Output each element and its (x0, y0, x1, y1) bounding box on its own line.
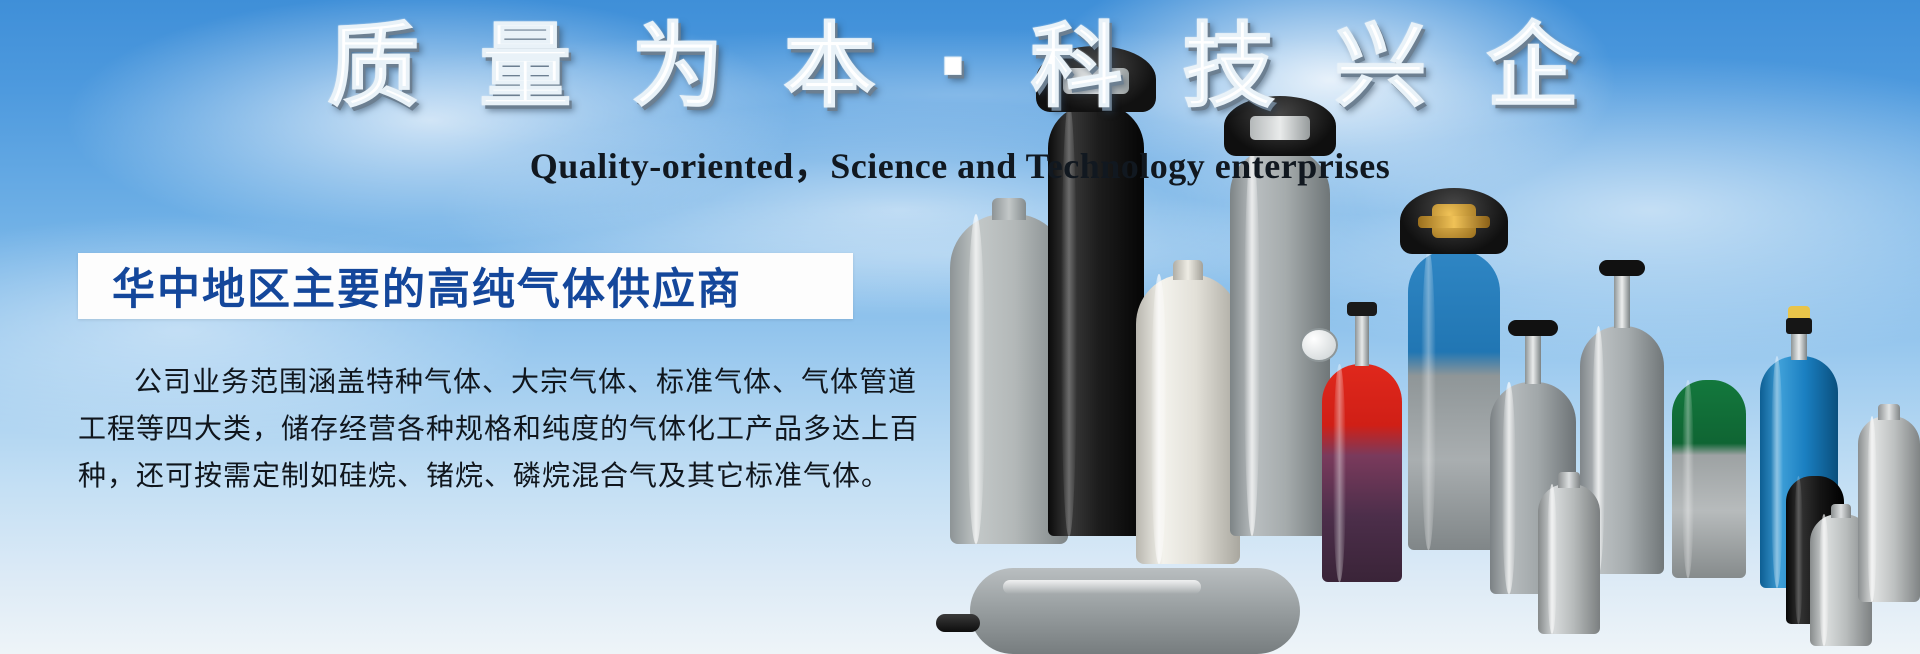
highlight-strap: 华中地区主要的高纯气体供应商 (78, 253, 853, 319)
company-description: 公司业务范围涵盖特种气体、大宗气体、标准气体、气体管道 工程等四大类，储存经营各… (78, 358, 868, 499)
valve-handwheel-icon (1508, 320, 1558, 336)
strap-text: 华中地区主要的高纯气体供应商 (78, 255, 742, 317)
description-line-2: 工程等四大类，储存经营各种规格和纯度的气体化工产品多达上百 (78, 405, 868, 452)
banner-headline: 质 量 为 本 · 科 技 兴 企 (0, 16, 1920, 117)
cylinder-aluminium-tall (1858, 416, 1920, 602)
description-line-1: 公司业务范围涵盖特种气体、大宗气体、标准气体、气体管道 (78, 358, 868, 405)
description-line-3: 种，还可按需定制如硅烷、锗烷、磷烷混合气及其它标准气体。 (78, 452, 868, 499)
cylinder-horizontal-tank (970, 568, 1300, 654)
cylinder-blue-grey (1408, 250, 1500, 550)
cylinder-red-purple (1322, 364, 1402, 582)
banner-subheadline: Quality-oriented，Science and Technology … (0, 137, 1920, 189)
hero-banner: 质 量 为 本 · 科 技 兴 企 Quality-oriented，Scien… (0, 0, 1920, 654)
cylinder-regulator-red (1355, 310, 1369, 366)
tank-side-valve (936, 614, 980, 632)
cylinder-white (1136, 274, 1240, 564)
cylinder-aluminium-small (1538, 484, 1600, 634)
cylinder-green-top (1672, 380, 1746, 578)
